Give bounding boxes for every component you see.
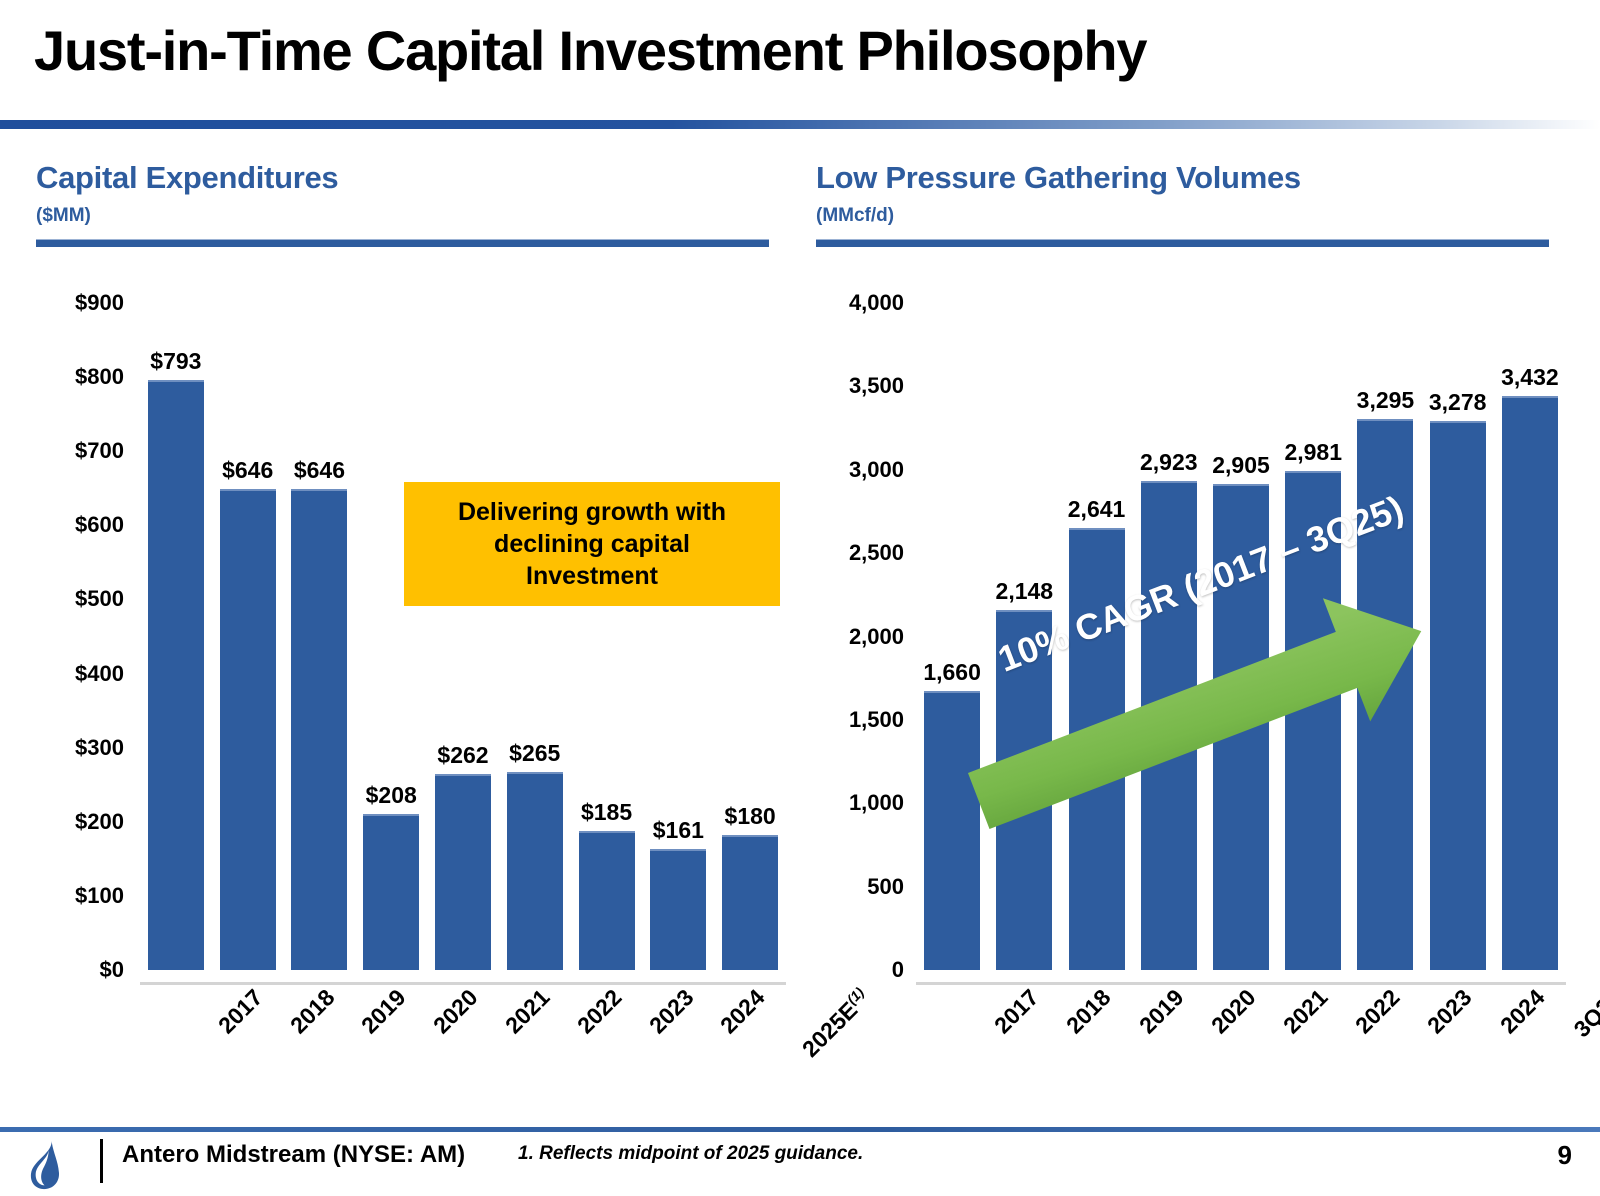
x-axis-label: 2024 xyxy=(1495,984,1550,1039)
capex-y-tick: $400 xyxy=(75,661,124,687)
low-pressure-gathering-volumes-y-tick: 1,500 xyxy=(849,707,904,733)
callout-line-3: Investment xyxy=(526,562,658,590)
bar xyxy=(1141,481,1197,970)
bar xyxy=(435,774,491,970)
capex-y-tick: $600 xyxy=(75,512,124,538)
x-axis-label: 2021 xyxy=(500,984,555,1039)
bar-value-label: 3,295 xyxy=(1357,387,1415,414)
capex-y-tick: $100 xyxy=(75,883,124,909)
bar xyxy=(722,835,778,970)
bar-value-label: 3,432 xyxy=(1501,364,1559,391)
x-axis-label: 2024 xyxy=(715,984,770,1039)
volumes-chart: 4,0003,5003,0002,5002,0001,5001,0005000 … xyxy=(816,285,1566,985)
x-axis-label: 2017 xyxy=(989,984,1044,1039)
footer-company-name: Antero Midstream (NYSE: AM) xyxy=(122,1141,465,1169)
x-axis-label: 2020 xyxy=(1206,984,1261,1039)
title-divider xyxy=(0,120,1600,129)
bar-value-label: 2,905 xyxy=(1212,452,1270,479)
capex-panel-divider xyxy=(36,239,769,247)
x-axis-label: 2025E(1) xyxy=(797,984,876,1063)
x-axis-label: 2017 xyxy=(213,984,268,1039)
footnote-text: 1. Reflects midpoint of 2025 guidance. xyxy=(518,1143,863,1165)
capex-y-tick: $500 xyxy=(75,586,124,612)
bar xyxy=(220,489,276,970)
capex-y-tick: $800 xyxy=(75,364,124,390)
bar xyxy=(1430,421,1486,970)
bar-value-label: 2,148 xyxy=(996,578,1054,605)
capex-plot-area: $7932017$6462018$6462019$2082020$2622021… xyxy=(140,285,786,985)
low-pressure-gathering-volumes-y-tick: 4,000 xyxy=(849,290,904,316)
x-axis-label: 2019 xyxy=(1134,984,1189,1039)
low-pressure-gathering-volumes-y-tick: 0 xyxy=(892,957,904,983)
x-axis-label: 2021 xyxy=(1278,984,1333,1039)
capex-y-tick: $300 xyxy=(75,735,124,761)
volumes-panel-header: Low Pressure Gathering Volumes (MMcf/d) xyxy=(816,160,1556,247)
bar xyxy=(1502,396,1558,970)
capex-panel-units: ($MM) xyxy=(36,205,776,227)
bar xyxy=(363,814,419,970)
bar-value-label: $180 xyxy=(725,803,776,830)
water-droplet-flame-icon xyxy=(22,1138,68,1190)
bar-value-label: $793 xyxy=(150,348,201,375)
capex-panel-header: Capital Expenditures ($MM) xyxy=(36,160,776,247)
low-pressure-gathering-volumes-y-tick: 2,000 xyxy=(849,624,904,650)
bar xyxy=(924,691,980,970)
low-pressure-gathering-volumes-y-tick: 3,000 xyxy=(849,457,904,483)
low-pressure-gathering-volumes-y-tick: 3,500 xyxy=(849,373,904,399)
footer-logo-separator xyxy=(100,1139,103,1183)
page-number: 9 xyxy=(1558,1140,1572,1171)
capex-y-tick: $200 xyxy=(75,809,124,835)
volumes-panel-units: (MMcf/d) xyxy=(816,205,1556,227)
bar-value-label: $265 xyxy=(509,740,560,767)
volumes-panel-divider xyxy=(816,239,1549,247)
bar-value-label: $185 xyxy=(581,799,632,826)
capex-chart: $900$800$700$600$500$400$300$200$100$0 $… xyxy=(36,285,786,985)
volumes-panel-title: Low Pressure Gathering Volumes xyxy=(816,160,1556,196)
capex-panel-title: Capital Expenditures xyxy=(36,160,776,196)
footer-divider xyxy=(0,1127,1600,1132)
x-axis-label: 2020 xyxy=(428,984,483,1039)
bar-value-label: $208 xyxy=(366,782,417,809)
x-axis-label: 2023 xyxy=(644,984,699,1039)
callout-line-1: Delivering growth with xyxy=(458,498,726,526)
bar-value-label: 2,641 xyxy=(1068,496,1126,523)
x-axis-label: 2018 xyxy=(1061,984,1116,1039)
x-axis-label: 2018 xyxy=(285,984,340,1039)
x-axis-label: 2022 xyxy=(572,984,627,1039)
bar xyxy=(507,772,563,970)
capex-y-axis: $900$800$700$600$500$400$300$200$100$0 xyxy=(36,285,132,985)
capex-y-tick: $0 xyxy=(100,957,124,983)
bar-value-label: 2,981 xyxy=(1284,439,1342,466)
bar-value-label: 3,278 xyxy=(1429,389,1487,416)
bar-value-label: 1,660 xyxy=(923,659,981,686)
x-axis-label: 2022 xyxy=(1350,984,1405,1039)
x-axis-label: 2019 xyxy=(356,984,411,1039)
volumes-y-axis: 4,0003,5003,0002,5002,0001,5001,0005000 xyxy=(816,285,912,985)
bar xyxy=(579,831,635,970)
bar-value-label: $161 xyxy=(653,817,704,844)
low-pressure-gathering-volumes-y-tick: 2,500 xyxy=(849,540,904,566)
bar-value-label: 2,923 xyxy=(1140,449,1198,476)
capex-y-tick: $700 xyxy=(75,438,124,464)
bar xyxy=(650,849,706,970)
capex-y-tick: $900 xyxy=(75,290,124,316)
low-pressure-gathering-volumes-y-tick: 500 xyxy=(867,874,904,900)
x-axis-label: 3Q25 xyxy=(1568,984,1600,1043)
low-pressure-gathering-volumes-y-tick: 1,000 xyxy=(849,790,904,816)
bar xyxy=(148,380,204,970)
bar-value-label: $646 xyxy=(222,457,273,484)
bar-value-label: $646 xyxy=(294,457,345,484)
x-axis-label: 2023 xyxy=(1422,984,1477,1039)
bar xyxy=(291,489,347,970)
callout-box: Delivering growth with declining capital… xyxy=(404,482,780,606)
callout-line-2: declining capital xyxy=(494,530,690,558)
page-title: Just-in-Time Capital Investment Philosop… xyxy=(34,18,1146,83)
bar-value-label: $262 xyxy=(437,742,488,769)
